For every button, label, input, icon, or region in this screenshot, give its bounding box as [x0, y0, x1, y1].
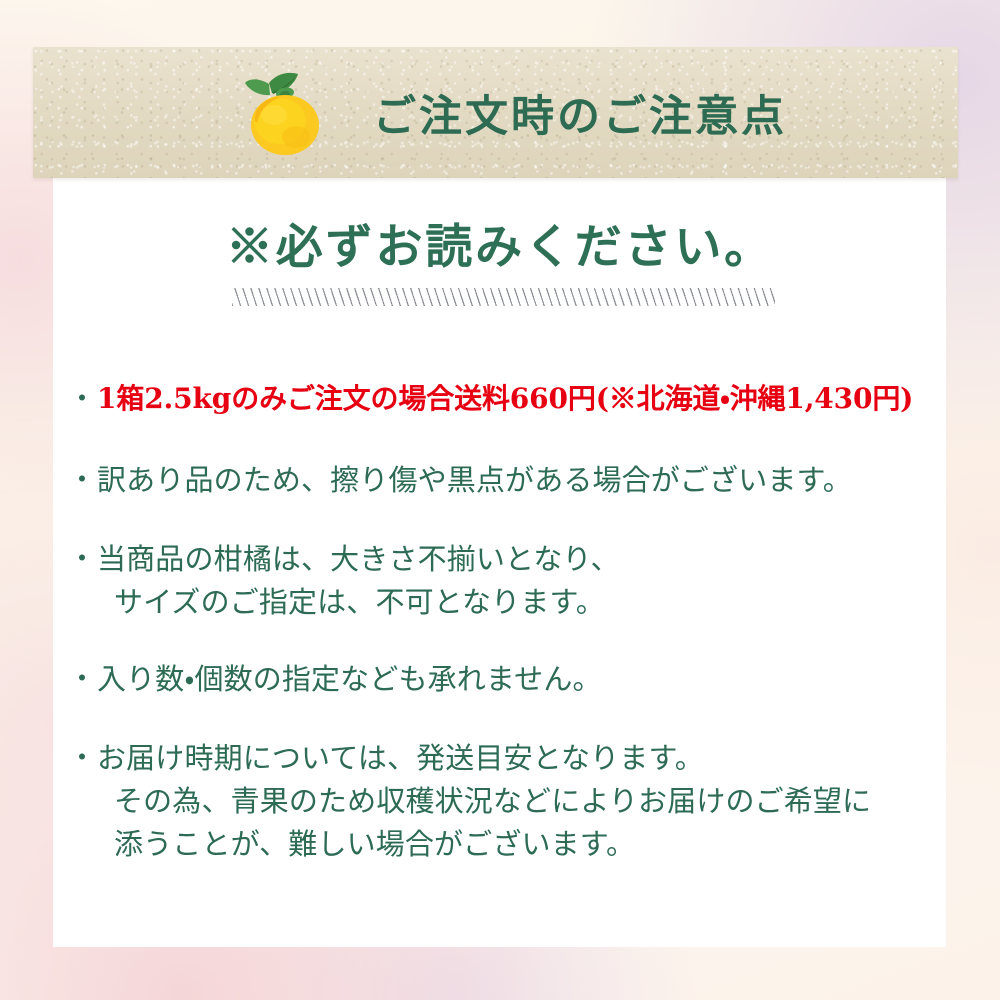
note-text: 当商品の柑橘は、大きさ不揃いとなり、 サイズのご指定は、不可となります。	[97, 538, 948, 624]
note-bullet-icon: ・	[68, 459, 97, 500]
note-line: 訳あり品のため、擦り傷や黒点がある場合がございます。	[97, 459, 948, 502]
note-line: サイズのご指定は、不可となります。	[97, 581, 948, 624]
note-item: ・ 入り数・個数の指定なども承れません。	[68, 658, 948, 701]
page-root: ご注文時のご注意点 ※必ずお読みください。 ・ 1箱2.5kgのみご注文の場合送…	[0, 0, 1000, 1000]
page-title: ※必ずお読みください。	[0, 208, 1000, 277]
note-text: 1箱2.5kgのみご注文の場合送料660円(※北海道・沖縄1,430円)	[97, 378, 948, 419]
note-line: 添うことが、難しい場合がございます。	[97, 823, 948, 866]
note-line: その為、青果のため収穫状況などによりお届けのご希望に	[97, 780, 948, 823]
note-bullet-icon: ・	[68, 378, 97, 419]
note-line: 1箱2.5kgのみご注文の場合送料660円(※北海道・沖縄1,430円)	[97, 378, 948, 419]
note-bullet-icon: ・	[68, 737, 97, 778]
note-text: 訳あり品のため、擦り傷や黒点がある場合がございます。	[97, 459, 948, 502]
note-bullet-icon: ・	[68, 538, 97, 579]
header-banner-inner: ご注文時のご注意点	[33, 47, 958, 178]
note-bullet-icon: ・	[68, 658, 97, 699]
header-banner: ご注文時のご注意点	[33, 47, 958, 178]
note-text: お届け時期については、発送目安となります。 その為、青果のため収穫状況などにより…	[97, 737, 948, 866]
note-line: 入り数・個数の指定なども承れません。	[97, 658, 948, 701]
note-line: お届け時期については、発送目安となります。	[97, 737, 948, 780]
note-item: ・ 当商品の柑橘は、大きさ不揃いとなり、 サイズのご指定は、不可となります。	[68, 538, 948, 624]
note-item: ・ お届け時期については、発送目安となります。 その為、青果のため収穫状況などに…	[68, 737, 948, 866]
hatched-divider	[232, 288, 775, 306]
note-item: ・ 1箱2.5kgのみご注文の場合送料660円(※北海道・沖縄1,430円)	[68, 378, 948, 419]
notes-list: ・ 1箱2.5kgのみご注文の場合送料660円(※北海道・沖縄1,430円) ・…	[68, 378, 948, 866]
note-item: ・ 訳あり品のため、擦り傷や黒点がある場合がございます。	[68, 459, 948, 502]
note-line: 当商品の柑橘は、大きさ不揃いとなり、	[97, 538, 948, 581]
mandarin-orange-icon	[228, 55, 340, 167]
note-text: 入り数・個数の指定なども承れません。	[97, 658, 948, 701]
banner-title: ご注文時のご注意点	[373, 82, 787, 144]
